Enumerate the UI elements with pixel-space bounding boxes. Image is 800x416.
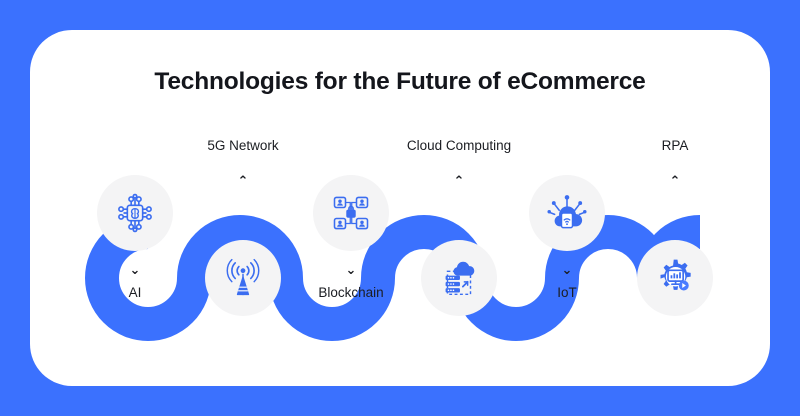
flow-label-rpa: RPA	[585, 138, 765, 153]
flow-label-ai: AI	[45, 285, 225, 300]
blockchain-lock-icon	[329, 191, 373, 235]
signal-tower-icon	[221, 256, 265, 300]
chevron-up-icon-5g-network: ⌃	[228, 175, 258, 188]
flow-label-blockchain: Blockchain	[261, 285, 441, 300]
flow-label-5g-network: 5G Network	[153, 138, 333, 153]
gear-dashboard-icon	[653, 256, 697, 300]
flow-label-cloud-computing: Cloud Computing	[369, 138, 549, 153]
iot-cloud-device-icon	[545, 191, 589, 235]
flow-node-5g-network[interactable]	[205, 240, 281, 316]
flow-node-ai[interactable]	[97, 175, 173, 251]
cloud-server-icon	[436, 255, 482, 301]
flow-node-iot[interactable]	[529, 175, 605, 251]
flow-node-blockchain[interactable]	[313, 175, 389, 251]
chevron-down-icon-blockchain: ⌄	[336, 264, 366, 277]
flow-node-cloud-computing[interactable]	[421, 240, 497, 316]
flow-label-iot: IoT	[477, 285, 657, 300]
chevron-down-icon-iot: ⌄	[552, 264, 582, 277]
content-card: Technologies for the Future of eCommerce	[30, 30, 770, 386]
chevron-up-icon-rpa: ⌃	[660, 175, 690, 188]
chevron-up-icon-cloud-computing: ⌃	[444, 175, 474, 188]
chevron-down-icon-ai: ⌄	[120, 264, 150, 277]
ai-chip-icon	[112, 190, 158, 236]
page-background: Technologies for the Future of eCommerce	[0, 0, 800, 416]
flow-node-rpa[interactable]	[637, 240, 713, 316]
